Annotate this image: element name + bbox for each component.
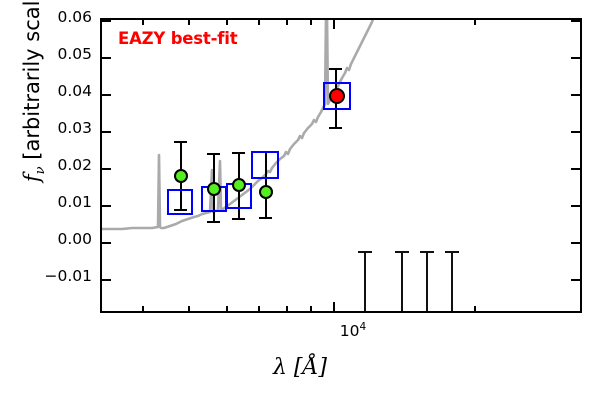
y-tick-label: 0.00 (6, 232, 92, 248)
x-tick-label-10e4: 104 (328, 322, 378, 340)
y-tick-mark-right (571, 20, 580, 22)
error-bar-cap (174, 141, 187, 143)
x-tick-minor-top (474, 20, 476, 25)
y-axis-title: fν [arbitrarily scaled] (20, 0, 48, 204)
error-bar-cap (259, 217, 272, 219)
x-tick-minor-top (142, 20, 144, 25)
sed-figure: 0.06 0.05 0.04 0.03 0.02 0.01 0.00 −0.01… (0, 0, 600, 400)
spectrum-curve (102, 20, 580, 311)
upper-limit-cap (395, 251, 409, 253)
error-bar-cap (232, 152, 245, 154)
y-tick-label: 0.06 (6, 10, 92, 26)
y-tick-mark (102, 205, 111, 207)
x-tick-exponent: 4 (360, 321, 367, 333)
x-tick-major-top (333, 20, 335, 29)
x-tick-minor-top (310, 20, 312, 25)
upper-limit-stem (401, 251, 403, 313)
y-tick-mark (102, 279, 111, 281)
y-tick-label: 0.02 (6, 158, 92, 174)
y-tick-mark-right (571, 205, 580, 207)
error-bar-cap (329, 127, 342, 129)
y-axis-title-nu: ν (33, 166, 48, 174)
y-axis-title-f: f (20, 174, 44, 182)
error-bar-cap (232, 218, 245, 220)
y-tick-mark (102, 20, 111, 22)
eazy-best-fit-annotation: EAZY best-fit (118, 29, 237, 48)
y-tick-mark (102, 131, 111, 133)
upper-limit-stem (426, 251, 428, 313)
y-tick-mark-right (571, 57, 580, 59)
upper-limit-stem (364, 251, 366, 313)
y-tick-label: 0.01 (6, 195, 92, 211)
x-tick-minor (258, 306, 260, 311)
upper-limit-cap (445, 251, 459, 253)
photometry-point (174, 169, 188, 183)
x-axis-title: λ [Å] (0, 355, 600, 380)
y-tick-mark-right (571, 131, 580, 133)
x-tick-minor (474, 306, 476, 311)
x-tick-major (333, 302, 335, 311)
x-tick-mantissa: 10 (340, 322, 360, 340)
model-flux-square (167, 189, 193, 215)
error-bar-cap (329, 68, 342, 70)
upper-limit-stem (451, 251, 453, 313)
x-tick-minor (286, 306, 288, 311)
y-tick-mark (102, 94, 111, 96)
x-tick-minor (188, 306, 190, 311)
y-tick-mark-right (571, 279, 580, 281)
detected-photometry-point (329, 88, 345, 104)
error-bar-cap (207, 153, 220, 155)
y-tick-mark-right (571, 94, 580, 96)
y-tick-mark-right (571, 242, 580, 244)
y-tick-label: 0.05 (6, 47, 92, 63)
upper-limit-cap (358, 251, 372, 253)
plot-area (100, 18, 582, 313)
upper-limit-cap (420, 251, 434, 253)
y-tick-mark (102, 168, 111, 170)
y-tick-mark-right (571, 168, 580, 170)
y-tick-label: 0.04 (6, 84, 92, 100)
error-bar-cap (207, 221, 220, 223)
x-tick-minor-top (226, 20, 228, 25)
x-tick-minor-top (286, 20, 288, 25)
x-tick-minor-top (258, 20, 260, 25)
x-tick-minor (142, 306, 144, 311)
x-tick-minor (310, 306, 312, 311)
y-axis-title-rest: [arbitrarily scaled] (20, 0, 44, 166)
photometry-point (207, 182, 221, 196)
y-tick-label: −0.01 (6, 269, 92, 285)
model-flux-square (251, 151, 279, 179)
y-tick-label: 0.03 (6, 121, 92, 137)
photometry-point (232, 178, 246, 192)
photometry-point (259, 185, 273, 199)
x-tick-minor-top (188, 20, 190, 25)
x-tick-minor (226, 306, 228, 311)
y-tick-mark (102, 242, 111, 244)
y-tick-mark (102, 57, 111, 59)
